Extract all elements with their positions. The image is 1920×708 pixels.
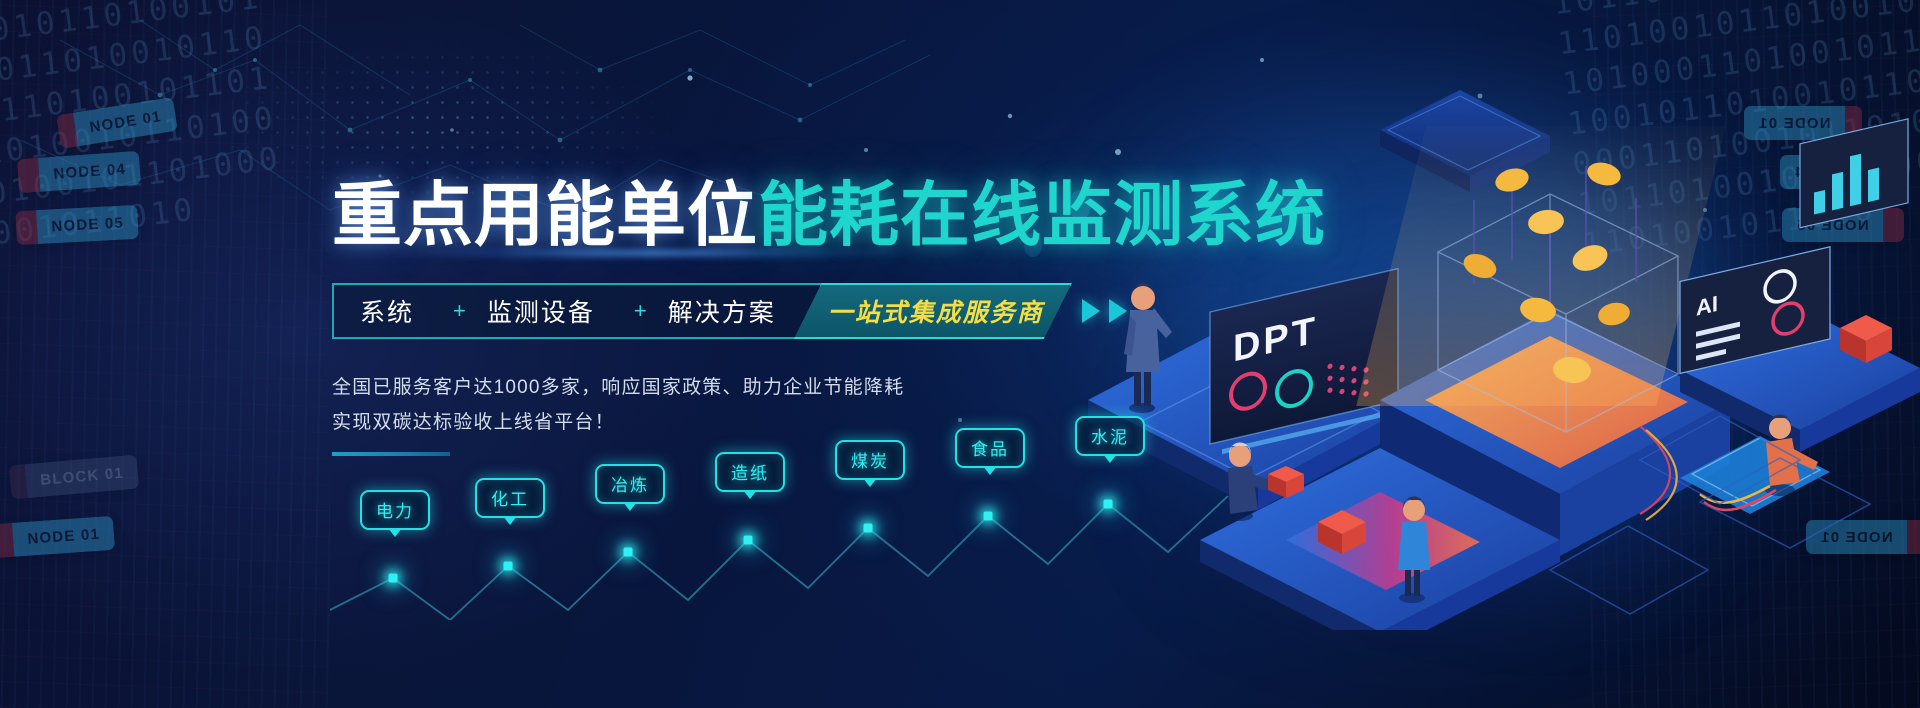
tagbar-item-1: 系统: [360, 293, 444, 329]
tagbar-item-3: 解决方案: [656, 293, 820, 329]
chart-panel: [1800, 119, 1908, 228]
pill-label: 化工: [491, 490, 529, 509]
pill-label: 电力: [376, 502, 414, 521]
pill-label: 造纸: [731, 464, 769, 483]
timeline-node-dot-7: [1104, 500, 1113, 509]
description-line-2: 实现双碳达标验收上线省平台！: [332, 405, 904, 440]
pill-label: 冶炼: [611, 476, 649, 495]
timeline-node-dot-1: [389, 574, 398, 583]
pill-label: 食品: [971, 440, 1009, 459]
section-divider: [332, 452, 450, 456]
title-cyan-part: 能耗在线监测系统: [758, 176, 1326, 254]
tagbar-separator-2: +: [625, 298, 656, 324]
timeline-node-dot-5: [864, 524, 873, 533]
timeline-node-dot-6: [984, 512, 993, 521]
tagbar-separator-1: +: [444, 298, 475, 324]
timeline-node-dot-3: [624, 548, 633, 557]
tagbar-items-box: 系统 + 监测设备 + 解决方案: [332, 283, 822, 339]
timeline-node-dot-2: [504, 562, 513, 571]
page-title: 重点用能单位能耗在线监测系统: [332, 180, 1326, 250]
industry-pill-造纸[interactable]: 造纸: [715, 452, 785, 492]
pill-label: 煤炭: [851, 452, 889, 471]
timeline-node-dot-4: [744, 536, 753, 545]
title-underglow: [300, 244, 1000, 262]
industry-pill-化工[interactable]: 化工: [475, 478, 545, 518]
energy-monitoring-banner: 1001011010001101001011010010110100101101…: [0, 0, 1920, 708]
industry-pill-冶炼[interactable]: 冶炼: [595, 464, 665, 504]
description-block: 全国已服务客户达1000多家，响应国家政策、助力企业节能降耗 实现双碳达标验收上…: [332, 370, 904, 440]
play-arrow-icon-2: [1109, 299, 1127, 323]
industry-pill-食品[interactable]: 食品: [955, 428, 1025, 468]
play-arrow-icon-1: [1082, 299, 1100, 323]
industry-pill-水泥[interactable]: 水泥: [1075, 416, 1145, 456]
industry-timeline: 电力 化工 冶炼 造纸 煤炭 食品 水泥: [330, 490, 1280, 620]
description-line-1: 全国已服务客户达1000多家，响应国家政策、助力企业节能降耗: [332, 370, 904, 405]
tagbar-item-2: 监测设备: [475, 293, 625, 329]
ai-panel-label: AI: [1696, 291, 1718, 321]
title-white-part: 重点用能单位: [332, 176, 758, 254]
tagbar-accent-label: 一站式集成服务商: [828, 293, 1044, 329]
industry-pill-电力[interactable]: 电力: [360, 490, 430, 530]
pill-label: 水泥: [1091, 428, 1129, 447]
arrow-group: [1082, 283, 1127, 339]
zigzag-line: [330, 490, 1280, 620]
industry-pill-煤炭[interactable]: 煤炭: [835, 440, 905, 480]
tagbar-accent: 一站式集成服务商: [794, 283, 1072, 339]
service-tagbar: 系统 + 监测设备 + 解决方案 一站式集成服务商: [332, 283, 1127, 339]
